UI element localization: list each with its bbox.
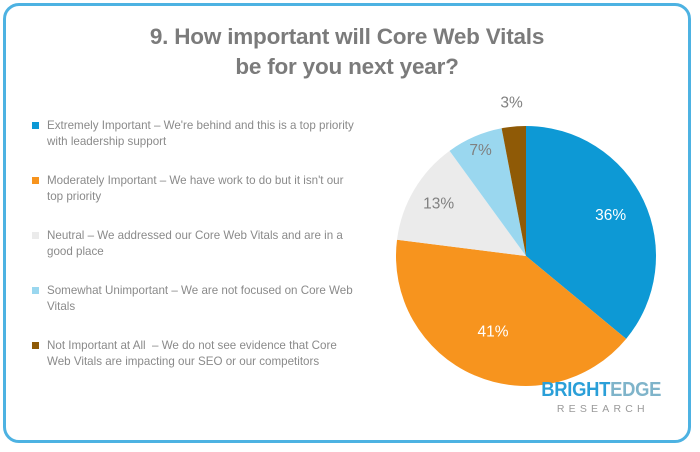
legend-swatch-icon: [32, 122, 39, 129]
legend-item-extremely-important[interactable]: Extremely Important – We're behind and t…: [32, 118, 354, 151]
legend-item-label: Neutral – We addressed our Core Web Vita…: [47, 228, 354, 261]
logo-word-edge: EDGE: [610, 379, 661, 401]
chart-legend: Extremely Important – We're behind and t…: [32, 118, 354, 371]
pie-slice-label: 36%: [595, 207, 626, 224]
pie-chart-svg: 36%41%13%7%3%: [391, 118, 666, 408]
legend-item-label: Extremely Important – We're behind and t…: [47, 118, 354, 151]
legend-swatch-icon: [32, 342, 39, 349]
page-title-line-1: 9. How important will Core Web Vitals: [6, 22, 688, 52]
page-title: 9. How important will Core Web Vitals be…: [6, 22, 688, 83]
logo-subtitle: RESEARCH: [536, 404, 666, 415]
legend-item-moderately-important[interactable]: Moderately Important – We have work to d…: [32, 173, 354, 206]
legend-swatch-icon: [32, 287, 39, 294]
slide-card: 9. How important will Core Web Vitals be…: [3, 3, 691, 443]
legend-item-label: Not Important at All – We do not see evi…: [47, 338, 354, 371]
pie-slice-label: 7%: [469, 142, 492, 159]
legend-swatch-icon: [32, 232, 39, 239]
pie-chart: 36%41%13%7%3%: [391, 118, 666, 408]
logo-word-bright: BRIGHT: [541, 379, 610, 401]
legend-item-label: Somewhat Unimportant – We are not focuse…: [47, 283, 354, 316]
pie-slice-label: 41%: [477, 323, 508, 340]
pie-slice-label: 3%: [500, 94, 523, 111]
legend-swatch-icon: [32, 177, 39, 184]
brightedge-logo: BRIGHTEDGE RESEARCH: [536, 380, 666, 415]
legend-item-somewhat-unimportant[interactable]: Somewhat Unimportant – We are not focuse…: [32, 283, 354, 316]
legend-item-label: Moderately Important – We have work to d…: [47, 173, 354, 206]
pie-slice-label: 13%: [423, 195, 454, 212]
legend-item-neutral[interactable]: Neutral – We addressed our Core Web Vita…: [32, 228, 354, 261]
pie-slice-group: [396, 126, 656, 386]
logo-wordmark: BRIGHTEDGE: [541, 380, 661, 400]
legend-item-not-important-at-all[interactable]: Not Important at All – We do not see evi…: [32, 338, 354, 371]
page-title-line-2: be for you next year?: [6, 52, 688, 82]
